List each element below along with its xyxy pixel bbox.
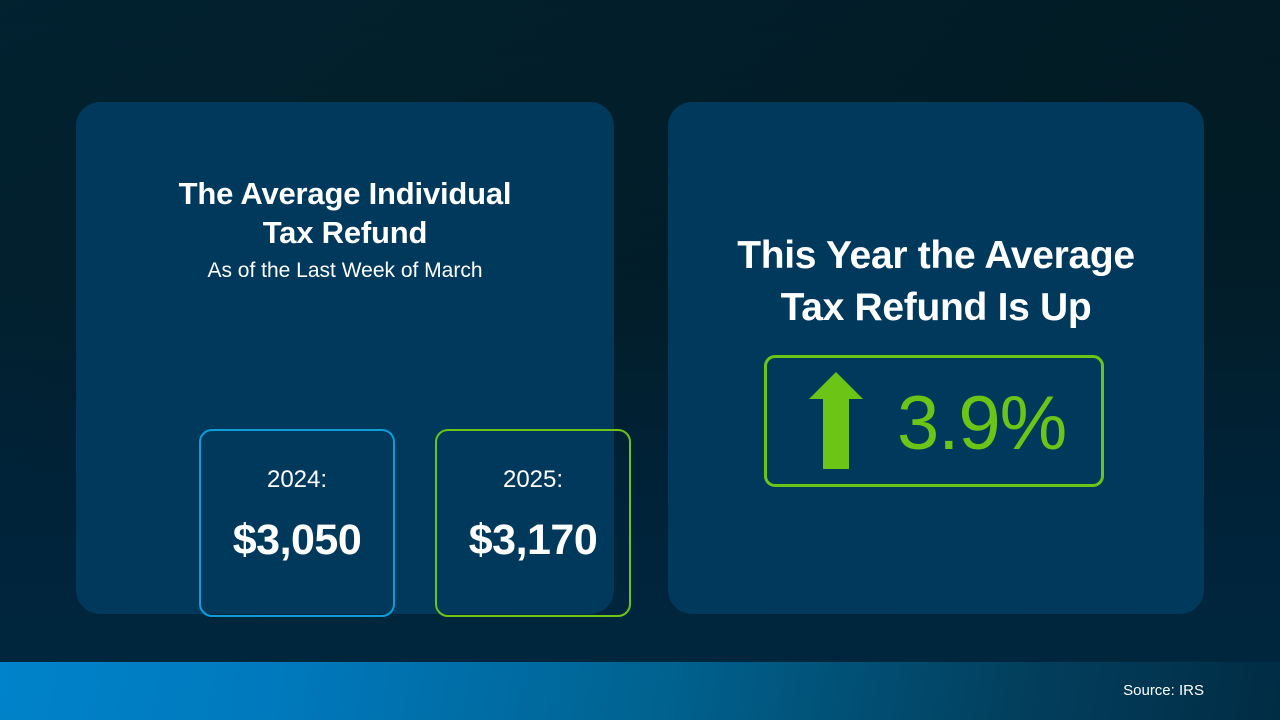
value-box-2025: 2025: $3,170 <box>435 429 631 617</box>
left-card-title: The Average Individual Tax Refund <box>76 174 614 252</box>
percent-change-value: 3.9% <box>897 370 1097 478</box>
left-card-title-line2: Tax Refund <box>76 213 614 252</box>
value-box-2024: 2024: $3,050 <box>199 429 395 617</box>
infographic-slide: The Average Individual Tax Refund As of … <box>0 0 1280 720</box>
arrow-up-icon <box>809 372 863 469</box>
value-box-2024-label: 2024: <box>201 466 393 494</box>
percent-change-box: 3.9% <box>764 355 1104 487</box>
value-box-2025-amount: $3,170 <box>437 516 629 565</box>
left-card-subtitle: As of the Last Week of March <box>76 258 614 284</box>
refund-change-card: This Year the Average Tax Refund Is Up 3… <box>668 102 1204 614</box>
source-label: Source: IRS <box>1123 662 1204 720</box>
right-card-title-line2: Tax Refund Is Up <box>668 282 1204 334</box>
value-box-2025-label: 2025: <box>437 466 629 494</box>
value-box-2024-amount: $3,050 <box>201 516 393 565</box>
right-card-title: This Year the Average Tax Refund Is Up <box>668 230 1204 334</box>
footer-bar: Source: IRS <box>0 662 1280 720</box>
left-card-title-line1: The Average Individual <box>76 174 614 213</box>
average-refund-card: The Average Individual Tax Refund As of … <box>76 102 614 614</box>
right-card-title-line1: This Year the Average <box>668 230 1204 282</box>
